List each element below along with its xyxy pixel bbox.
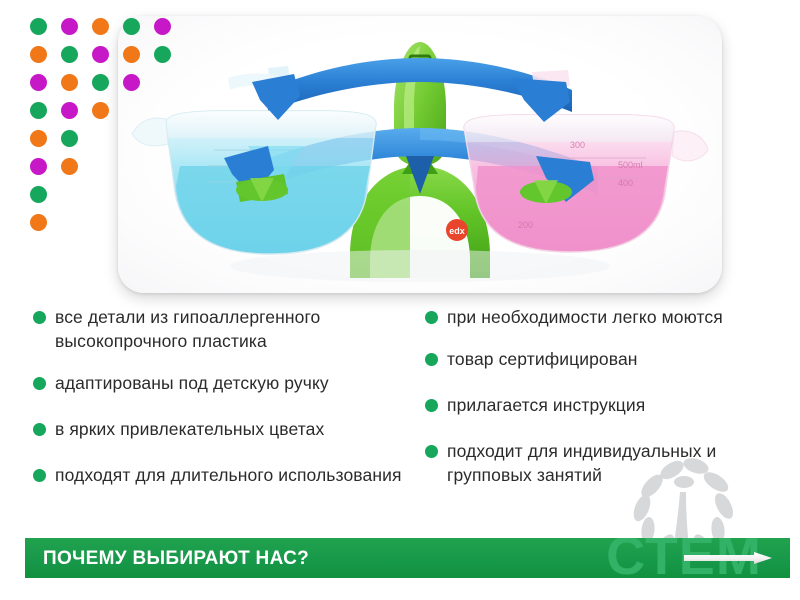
- bullet-dot-icon: [425, 399, 438, 412]
- feature-list-item: при необходимости легко моются: [422, 305, 794, 329]
- decorative-dot-grid: [0, 0, 200, 260]
- footer-title: ПОЧЕМУ ВЫБИРАЮТ НАС?: [43, 538, 309, 578]
- decorative-dot: [123, 74, 140, 91]
- bullet-dot-icon: [33, 423, 46, 436]
- feature-list-item-label: в ярких привлекательных цветах: [55, 419, 324, 439]
- decorative-dot: [61, 74, 78, 91]
- svg-text:edx: edx: [449, 226, 465, 236]
- right-measuring-cup: 500ml 400 300 200: [464, 70, 708, 252]
- decorative-dot: [30, 46, 47, 63]
- footer-banner: СТЕМ ПОЧЕМУ ВЫБИРАЮТ НАС?: [25, 538, 790, 578]
- decorative-dot: [92, 74, 109, 91]
- balance-scale-photo: edx: [118, 16, 722, 293]
- decorative-dot: [92, 46, 109, 63]
- decorative-dot: [154, 18, 171, 35]
- feature-list-item: товар сертифицирован: [422, 347, 794, 371]
- decorative-dot: [30, 158, 47, 175]
- feature-list: все детали из гипоаллергенного высокопро…: [0, 305, 800, 533]
- balance-scale-illustration: edx: [118, 16, 722, 293]
- feature-list-item-label: товар сертифицирован: [447, 349, 638, 369]
- feature-list-item: подходят для длительного использования: [30, 463, 420, 487]
- bullet-dot-icon: [33, 469, 46, 482]
- feature-list-item-label: прилагается инструкция: [447, 395, 645, 415]
- bullet-dot-icon: [33, 377, 46, 390]
- decorative-dot: [30, 186, 47, 203]
- cup-mark-200: 200: [518, 220, 533, 230]
- decorative-dot: [61, 46, 78, 63]
- decorative-dot: [61, 18, 78, 35]
- decorative-dot: [92, 18, 109, 35]
- feature-list-item: адаптированы под детскую ручку: [30, 371, 420, 395]
- bullet-dot-icon: [425, 445, 438, 458]
- bullet-dot-icon: [425, 353, 438, 366]
- cup-mark-300: 300: [570, 140, 585, 150]
- cup-mark-400: 400: [618, 178, 633, 188]
- decorative-dot: [61, 158, 78, 175]
- decorative-dot: [30, 102, 47, 119]
- arrow-right-icon[interactable]: [684, 552, 772, 564]
- decorative-dot: [123, 18, 140, 35]
- bullet-dot-icon: [425, 311, 438, 324]
- decorative-dot: [154, 46, 171, 63]
- decorative-dot: [30, 130, 47, 147]
- feature-list-item: все детали из гипоаллергенного высокопро…: [30, 305, 420, 353]
- decorative-dot: [30, 18, 47, 35]
- feature-list-right-column: при необходимости легко моютсятовар серт…: [422, 305, 794, 509]
- decorative-dot: [30, 214, 47, 231]
- feature-list-item-label: при необходимости легко моются: [447, 307, 723, 327]
- product-image-card: edx: [118, 16, 722, 293]
- slide-root: edx: [0, 0, 800, 600]
- decorative-dot: [92, 102, 109, 119]
- feature-list-item: подходит для индивидуальных и групповых …: [422, 439, 794, 487]
- feature-list-item-label: все детали из гипоаллергенного высокопро…: [55, 307, 320, 351]
- decorative-dot: [123, 46, 140, 63]
- decorative-dot: [61, 102, 78, 119]
- decorative-dot: [30, 74, 47, 91]
- bullet-dot-icon: [33, 311, 46, 324]
- cup-mark-500: 500ml: [618, 160, 643, 170]
- feature-list-item: в ярких привлекательных цветах: [30, 417, 420, 441]
- feature-list-item: прилагается инструкция: [422, 393, 794, 417]
- feature-list-item-label: подходят для длительного использования: [55, 465, 402, 485]
- feature-list-item-label: подходит для индивидуальных и групповых …: [447, 441, 716, 485]
- feature-list-item-label: адаптированы под детскую ручку: [55, 373, 329, 393]
- feature-list-left-column: все детали из гипоаллергенного высокопро…: [30, 305, 420, 509]
- decorative-dot: [61, 130, 78, 147]
